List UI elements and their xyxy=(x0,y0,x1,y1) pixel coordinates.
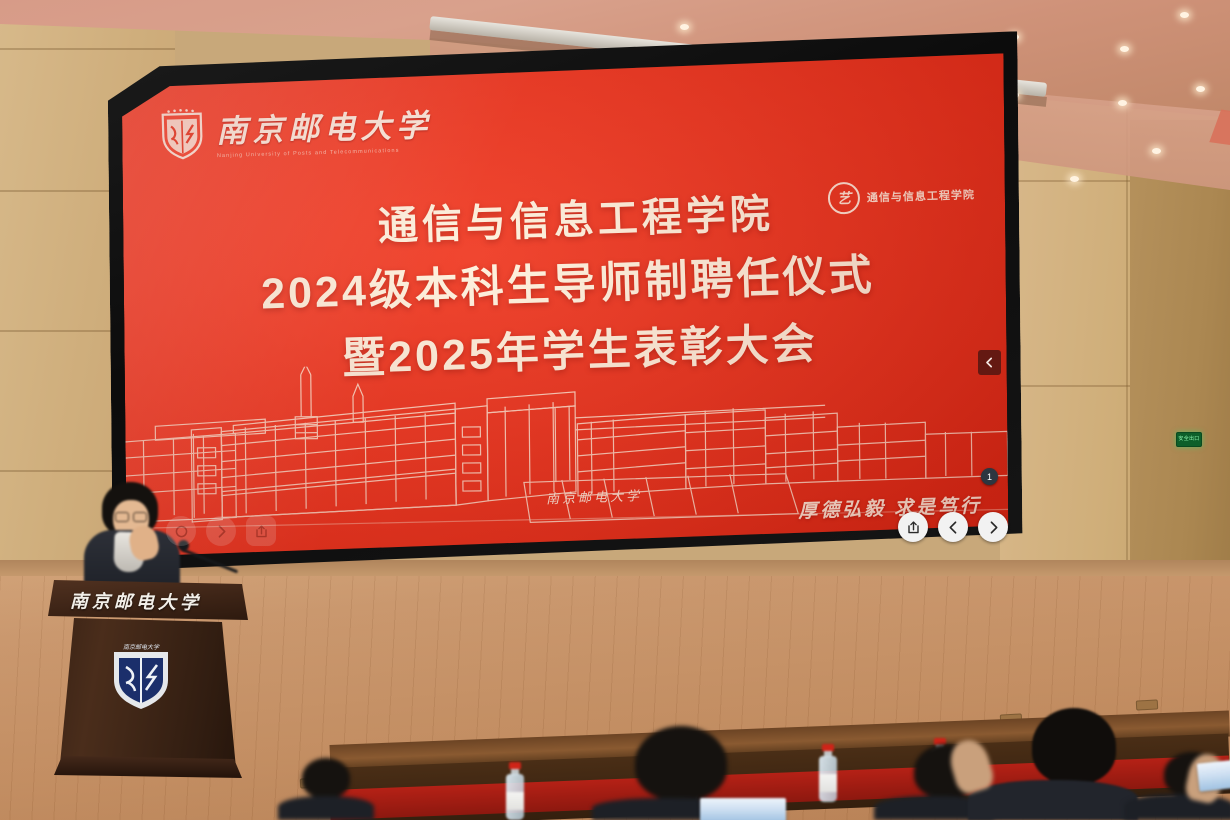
chevron-right-icon xyxy=(214,524,229,539)
next-button[interactable] xyxy=(978,512,1008,542)
ceiling-spotlight xyxy=(1070,176,1079,182)
university-crest-emblem-icon: 南京邮电大学 xyxy=(110,640,172,712)
slide-control-bar xyxy=(898,512,1008,542)
floor-outlet xyxy=(1136,699,1158,710)
share-icon xyxy=(254,524,269,539)
exit-sign-label: 安全出口 xyxy=(1178,437,1199,442)
university-name-zh: 南京邮电大学 xyxy=(215,100,432,151)
university-brand-text: 南京邮电大学 Nanjing University of Posts and T… xyxy=(215,100,432,159)
share-button[interactable] xyxy=(898,512,928,542)
ceiling-spotlight xyxy=(1120,46,1129,52)
led-screen-content: 南京邮电大学 Nanjing University of Posts and T… xyxy=(121,51,1008,556)
university-shield-icon xyxy=(159,107,205,160)
share-ghost-button[interactable] xyxy=(246,516,276,546)
audience-member-front xyxy=(1010,708,1138,820)
podium: 南京邮电大学 南京邮电大学 xyxy=(48,580,248,780)
share-icon xyxy=(906,520,921,535)
name-card xyxy=(700,798,786,820)
podium-base xyxy=(54,756,242,778)
ceiling-spotlight xyxy=(1196,86,1205,92)
chevron-right-icon xyxy=(986,520,1001,535)
previous-button[interactable] xyxy=(938,512,968,542)
record-button[interactable] xyxy=(166,516,196,546)
page-badge[interactable]: 1 xyxy=(981,468,998,485)
svg-text:南京邮电大学: 南京邮电大学 xyxy=(123,643,160,651)
chevron-left-icon xyxy=(946,520,961,535)
ceiling-spotlight xyxy=(680,24,689,30)
collapse-panel-tab[interactable] xyxy=(978,350,1001,375)
circle-icon xyxy=(174,524,189,539)
speaker-glasses xyxy=(115,512,147,520)
applauding-hands xyxy=(952,740,990,792)
exit-sign: 安全出口 xyxy=(1176,432,1202,447)
ceiling-spotlight xyxy=(1152,148,1161,154)
play-next-button[interactable] xyxy=(206,516,236,546)
chevron-left-icon xyxy=(984,357,995,368)
led-screen[interactable]: 南京邮电大学 Nanjing University of Posts and T… xyxy=(107,31,1023,571)
audience-member xyxy=(278,758,374,820)
gate-sign-label: 南京邮电大学 xyxy=(546,485,643,507)
university-brand-lockup: 南京邮电大学 Nanjing University of Posts and T… xyxy=(159,100,432,161)
ghost-control-bar xyxy=(166,516,276,546)
ceiling-spotlight xyxy=(1118,100,1127,106)
ceiling-spotlight xyxy=(1180,12,1189,18)
screenshot-root: 安全出口 xyxy=(0,0,1230,820)
podium-label: 南京邮电大学 xyxy=(70,587,202,615)
